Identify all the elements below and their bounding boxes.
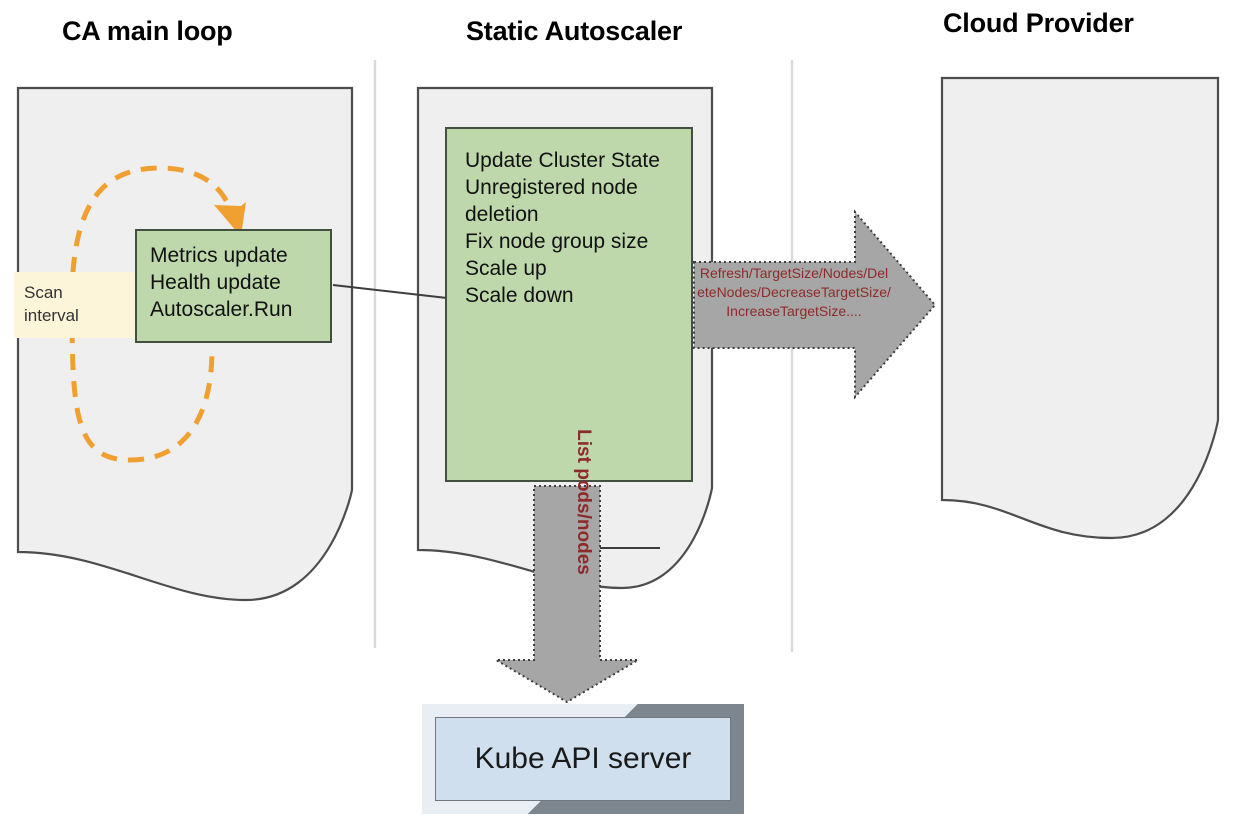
sa-step-line-1: Update Cluster State bbox=[465, 147, 691, 174]
lane-title-static-autoscaler: Static Autoscaler bbox=[466, 16, 682, 47]
note-scan-interval-line-2: interval bbox=[24, 304, 126, 327]
arrow-label-kube-api-calls: List pods/nodes bbox=[573, 420, 593, 584]
process-box-metrics-update: Metrics update Health update Autoscaler.… bbox=[135, 229, 332, 343]
sa-step-line-5: Scale up bbox=[465, 255, 691, 282]
process-box-static-autoscaler-steps: Update Cluster State Unregistered node d… bbox=[445, 127, 693, 482]
sa-step-line-6: Scale down bbox=[465, 282, 691, 309]
lane-title-cloud-provider: Cloud Provider bbox=[943, 8, 1134, 39]
arrow-label-cloud-provider-calls: Refresh/TargetSize/Nodes/DeleteNodes/Dec… bbox=[696, 264, 892, 321]
lane-title-ca-main-loop: CA main loop bbox=[62, 16, 233, 47]
metrics-line-1: Metrics update bbox=[150, 242, 330, 269]
note-scan-interval-line-1: Scan bbox=[24, 281, 126, 304]
diagram-canvas: CA main loop Static Autoscaler Cloud Pro… bbox=[0, 0, 1240, 838]
lane-container-ca-main-loop bbox=[18, 88, 352, 600]
metrics-line-2: Health update bbox=[150, 269, 330, 296]
lane-container-cloud-provider bbox=[942, 78, 1218, 538]
node-kube-api-server: Kube API server bbox=[422, 704, 744, 814]
kube-api-server-label: Kube API server bbox=[435, 717, 731, 801]
sa-step-line-2: Unregistered node bbox=[465, 174, 691, 201]
sa-step-line-3: deletion bbox=[465, 201, 691, 228]
sa-step-line-4: Fix node group size bbox=[465, 228, 691, 255]
metrics-line-3: Autoscaler.Run bbox=[150, 296, 330, 323]
note-scan-interval: Scan interval bbox=[14, 272, 136, 338]
